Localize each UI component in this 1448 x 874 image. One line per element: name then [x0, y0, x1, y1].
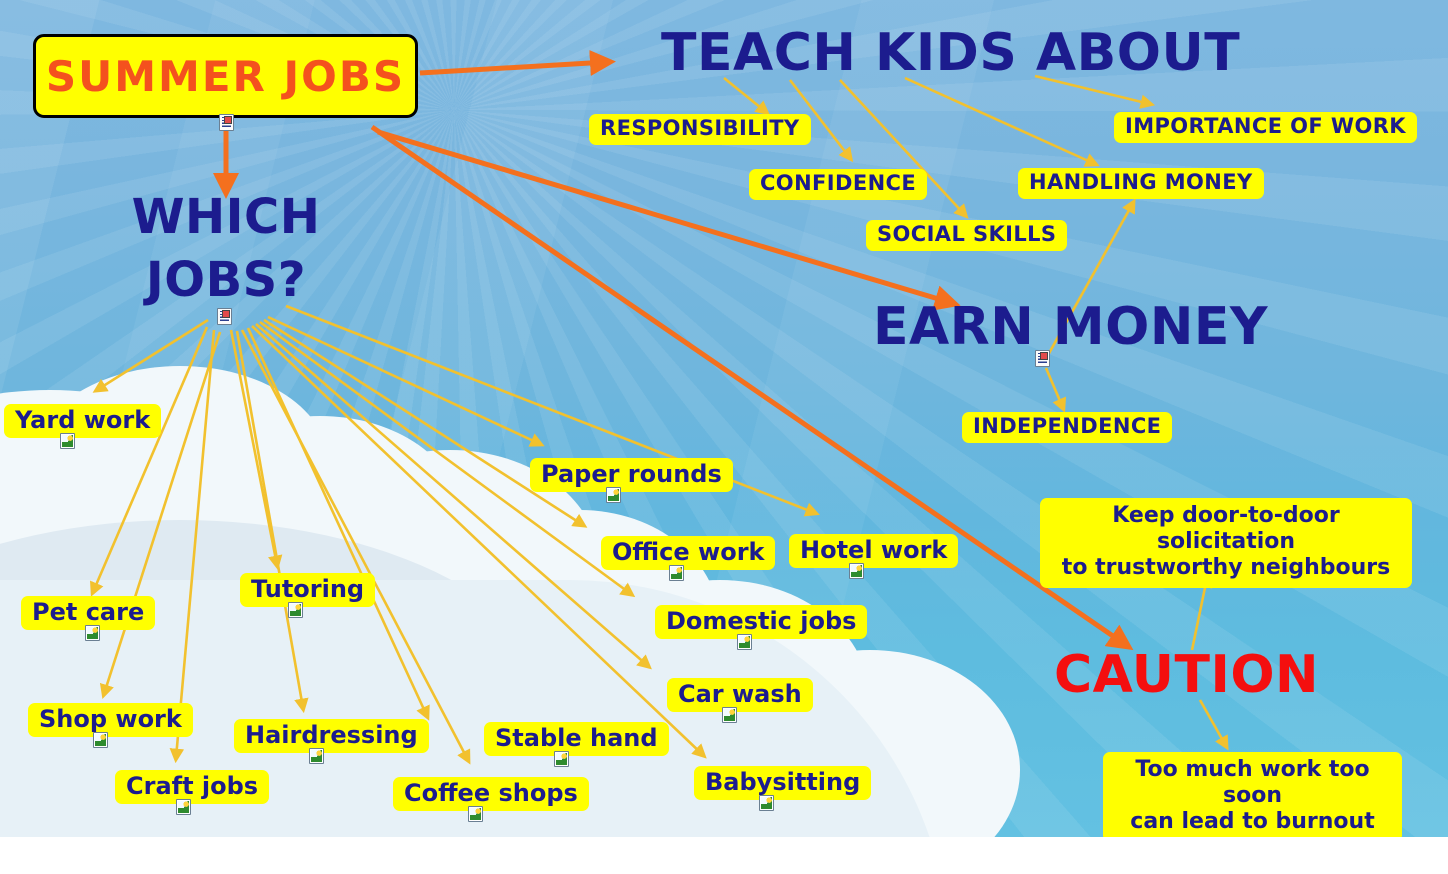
node-hotel-work[interactable]: Hotel work: [789, 534, 958, 568]
note-icon[interactable]: [1035, 350, 1050, 367]
chip-line-1: Too much work too soon: [1117, 757, 1388, 809]
node-summer-jobs[interactable]: SUMMER JOBS: [33, 34, 418, 118]
node-which-jobs[interactable]: WHICH JOBS?: [126, 192, 326, 306]
node-pet-care[interactable]: Pet care: [21, 596, 155, 630]
chip-label: Hairdressing: [234, 719, 429, 753]
chip-label: Car wash: [667, 678, 813, 712]
heading-label: EARN MONEY: [873, 300, 1268, 355]
node-importance-of-work[interactable]: IMPORTANCE OF WORK: [1114, 112, 1417, 143]
sky-background: SUMMER JOBS TEACH KIDS ABOUT RESPONSIBIL…: [0, 0, 1448, 837]
chip-label: IMPORTANCE OF WORK: [1114, 112, 1417, 143]
chip-body: Keep door-to-door solicitation to trustw…: [1040, 498, 1412, 588]
node-stable-hand[interactable]: Stable hand: [484, 722, 669, 756]
node-burnout[interactable]: Too much work too soon can lead to burno…: [1103, 752, 1402, 837]
node-hairdressing[interactable]: Hairdressing: [234, 719, 429, 753]
heading-line-2: JOBS?: [126, 255, 326, 306]
picture-icon[interactable]: [849, 563, 864, 579]
chip-label: Stable hand: [484, 722, 669, 756]
node-coffee-shops[interactable]: Coffee shops: [393, 777, 589, 811]
mindmap-canvas: SUMMER JOBS TEACH KIDS ABOUT RESPONSIBIL…: [0, 0, 1448, 874]
node-earn-money[interactable]: EARN MONEY: [873, 300, 1268, 355]
chip-label: Yard work: [4, 404, 161, 438]
picture-icon[interactable]: [176, 799, 191, 815]
picture-icon[interactable]: [722, 707, 737, 723]
note-icon[interactable]: [217, 308, 232, 325]
node-shop-work[interactable]: Shop work: [28, 703, 193, 737]
node-handling-money[interactable]: HANDLING MONEY: [1018, 168, 1264, 199]
picture-icon[interactable]: [554, 751, 569, 767]
picture-icon[interactable]: [606, 487, 621, 503]
heading-label: CAUTION: [1054, 648, 1319, 703]
node-domestic-jobs[interactable]: Domestic jobs: [655, 605, 867, 639]
picture-icon[interactable]: [60, 433, 75, 449]
node-office-work[interactable]: Office work: [601, 536, 775, 570]
root-label: SUMMER JOBS: [33, 34, 418, 118]
picture-icon[interactable]: [759, 795, 774, 811]
node-responsibility[interactable]: RESPONSIBILITY: [589, 114, 811, 145]
picture-icon[interactable]: [669, 565, 684, 581]
picture-icon[interactable]: [93, 732, 108, 748]
chip-label: CONFIDENCE: [749, 169, 927, 200]
node-confidence[interactable]: CONFIDENCE: [749, 169, 927, 200]
chip-label: Shop work: [28, 703, 193, 737]
chip-label: Coffee shops: [393, 777, 589, 811]
node-babysitting[interactable]: Babysitting: [694, 766, 871, 800]
node-paper-rounds[interactable]: Paper rounds: [530, 458, 733, 492]
node-craft-jobs[interactable]: Craft jobs: [115, 770, 269, 804]
chip-label: Hotel work: [789, 534, 958, 568]
chip-label: Tutoring: [240, 573, 375, 607]
chip-line-2: can lead to burnout: [1117, 809, 1388, 835]
chip-line-2: to trustworthy neighbours: [1054, 555, 1398, 581]
chip-label: INDEPENDENCE: [962, 412, 1172, 443]
node-caution[interactable]: CAUTION: [1054, 648, 1319, 703]
picture-icon[interactable]: [468, 806, 483, 822]
node-tutoring[interactable]: Tutoring: [240, 573, 375, 607]
node-independence[interactable]: INDEPENDENCE: [962, 412, 1172, 443]
chip-line-1: Keep door-to-door solicitation: [1054, 503, 1398, 555]
chip-label: Office work: [601, 536, 775, 570]
picture-icon[interactable]: [288, 602, 303, 618]
node-teach-kids-about[interactable]: TEACH KIDS ABOUT: [661, 26, 1240, 81]
node-yard-work[interactable]: Yard work: [4, 404, 161, 438]
heading-label: TEACH KIDS ABOUT: [661, 26, 1240, 81]
picture-icon[interactable]: [309, 748, 324, 764]
chip-label: Craft jobs: [115, 770, 269, 804]
chip-body: Too much work too soon can lead to burno…: [1103, 752, 1402, 837]
node-social-skills[interactable]: SOCIAL SKILLS: [866, 220, 1067, 251]
node-keep-door-to-door[interactable]: Keep door-to-door solicitation to trustw…: [1040, 498, 1412, 588]
node-car-wash[interactable]: Car wash: [667, 678, 813, 712]
chip-label: Babysitting: [694, 766, 871, 800]
picture-icon[interactable]: [737, 634, 752, 650]
chip-label: HANDLING MONEY: [1018, 168, 1264, 199]
chip-label: RESPONSIBILITY: [589, 114, 811, 145]
chip-label: Domestic jobs: [655, 605, 867, 639]
chip-label: SOCIAL SKILLS: [866, 220, 1067, 251]
picture-icon[interactable]: [85, 625, 100, 641]
chip-label: Paper rounds: [530, 458, 733, 492]
heading-line-1: WHICH: [126, 192, 326, 243]
note-icon[interactable]: [219, 114, 234, 131]
